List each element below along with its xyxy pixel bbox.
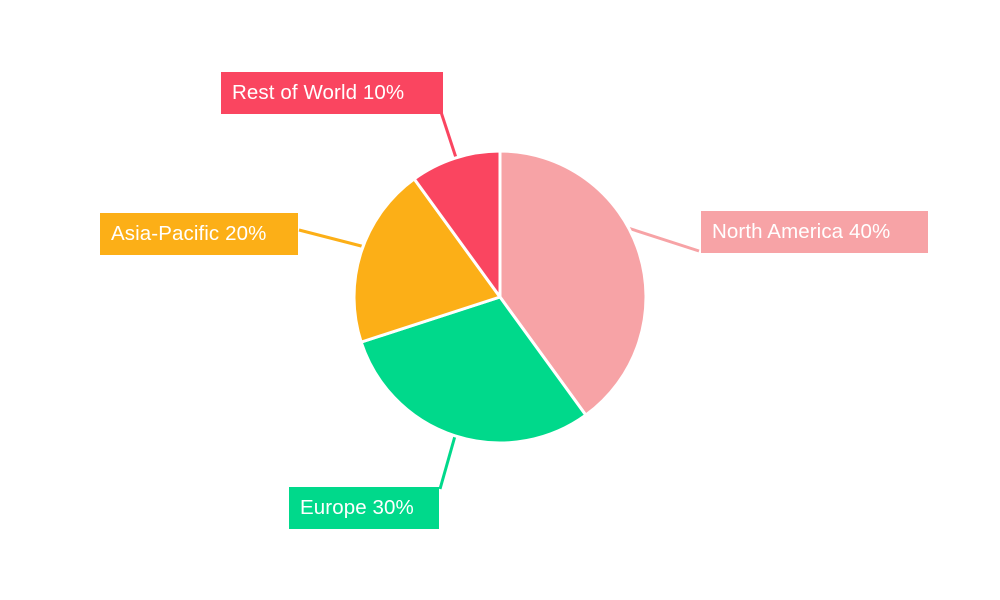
slice-label-text-rest-of-world: Rest of World 10%	[232, 72, 404, 114]
slice-label-text-europe: Europe 30%	[300, 487, 414, 529]
leader-line-europe	[440, 436, 455, 489]
slice-label-text-asia-pacific: Asia-Pacific 20%	[111, 213, 266, 255]
pie-slice-group	[354, 151, 646, 443]
slice-label-text-north-america: North America 40%	[712, 211, 890, 253]
pie-chart-canvas: North America 40%Europe 30%Asia-Pacific …	[0, 0, 1000, 600]
slice-label-europe[interactable]: Europe 30%	[289, 487, 439, 529]
leader-line-asia-pacific	[299, 230, 369, 248]
slice-label-asia-pacific[interactable]: Asia-Pacific 20%	[100, 213, 298, 255]
slice-label-north-america[interactable]: North America 40%	[701, 211, 928, 253]
pie-chart-svg	[0, 0, 1000, 600]
slice-label-rest-of-world[interactable]: Rest of World 10%	[221, 72, 443, 114]
